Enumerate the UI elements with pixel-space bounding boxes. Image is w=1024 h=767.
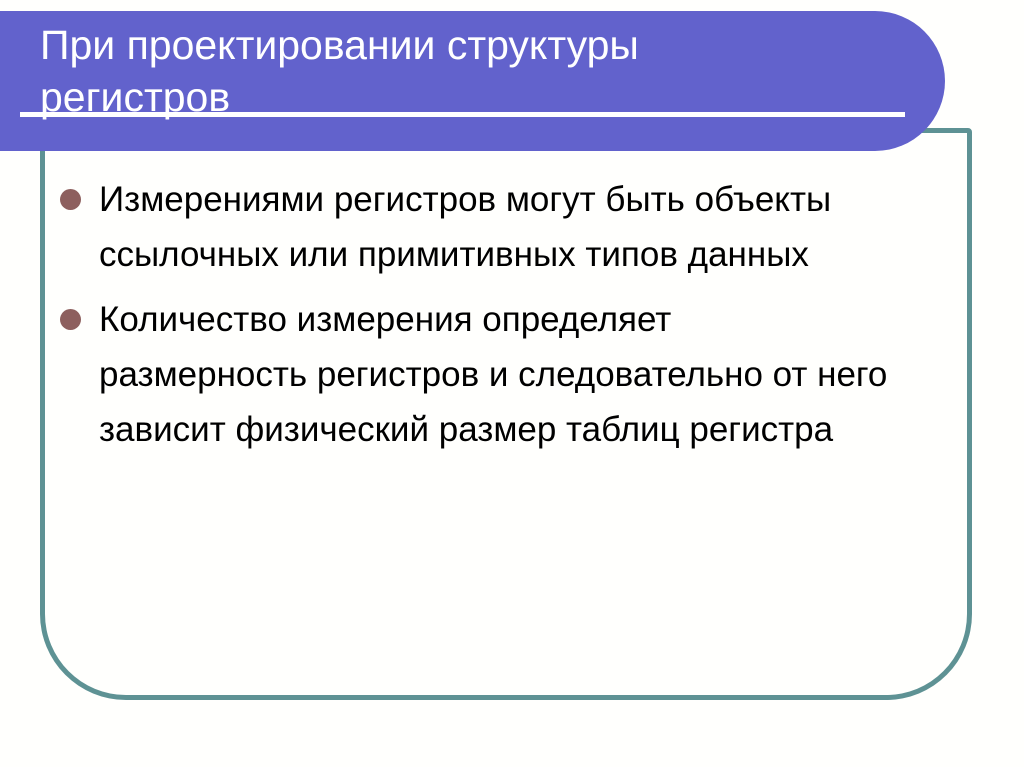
list-item: Измерениями регистров могут быть объекты… <box>60 172 960 282</box>
slide-body: Измерениями регистров могут быть объекты… <box>60 172 960 467</box>
list-item-text: Измерениями регистров могут быть объекты… <box>99 172 909 282</box>
title-banner: При проектировании структуры регистров <box>0 11 945 151</box>
bullet-dot-icon <box>60 189 81 210</box>
list-item: Количество измерения определяет размерно… <box>60 292 960 457</box>
slide-title: При проектировании структуры регистров <box>40 19 900 123</box>
presentation-slide: При проектировании структуры регистров И… <box>0 0 1024 767</box>
list-item-text: Количество измерения определяет размерно… <box>99 292 889 457</box>
bullet-dot-icon <box>60 309 81 330</box>
title-underline-rule <box>20 112 905 117</box>
